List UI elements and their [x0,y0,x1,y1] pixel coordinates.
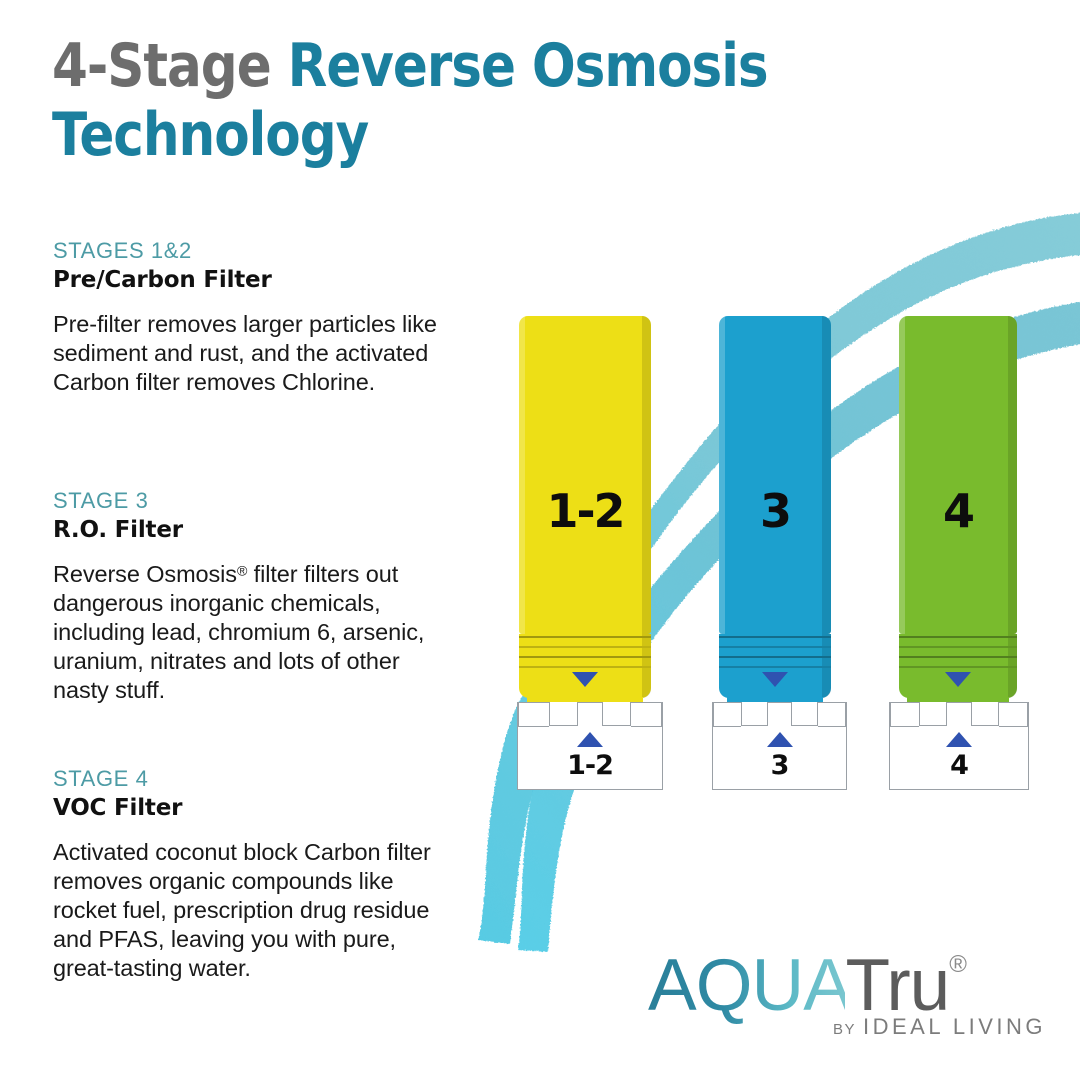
cartridge-neck-rib [899,636,1017,638]
cartridge-neck-rib [899,646,1017,648]
logo-aqua-text: AQUA [648,945,845,1026]
base-socket-shoulder [999,726,1029,727]
base-socket-top-gap [890,703,1028,726]
cartridge-neck-rib [899,656,1017,658]
filter-cartridge-4[interactable]: 44 [0,0,1080,1080]
infographic-page: 4-Stage Reverse Osmosis Technology STAGE… [0,0,1080,1080]
logo-tagline-by: BY [833,1021,856,1038]
cartridge-number-label: 4 [899,484,1017,538]
filter-cartridge-group: 1-21-23344 [0,0,1080,1080]
logo-tagline: BYIDEAL LIVING [833,1014,1046,1040]
flow-direction-up-icon [946,732,972,747]
flow-direction-down-icon [945,672,971,687]
aquatru-logo: AQUATru® BYIDEAL LIVING [648,944,1048,1054]
cartridge-body [899,316,1017,634]
base-socket-notch [919,702,947,726]
cartridge-body-shading [1008,316,1017,634]
cartridge-body-highlight [899,316,905,634]
base-socket-notch [971,702,999,726]
logo-tagline-brand: IDEAL LIVING [863,1014,1046,1039]
logo-wordmark: AQUATru® [648,944,1048,1010]
cartridge-neck-rib [899,666,1017,668]
base-number-label: 4 [889,750,1029,781]
base-socket-shoulder [889,726,919,727]
logo-registered-icon: ® [949,951,967,978]
cartridge-neck [899,634,1017,698]
